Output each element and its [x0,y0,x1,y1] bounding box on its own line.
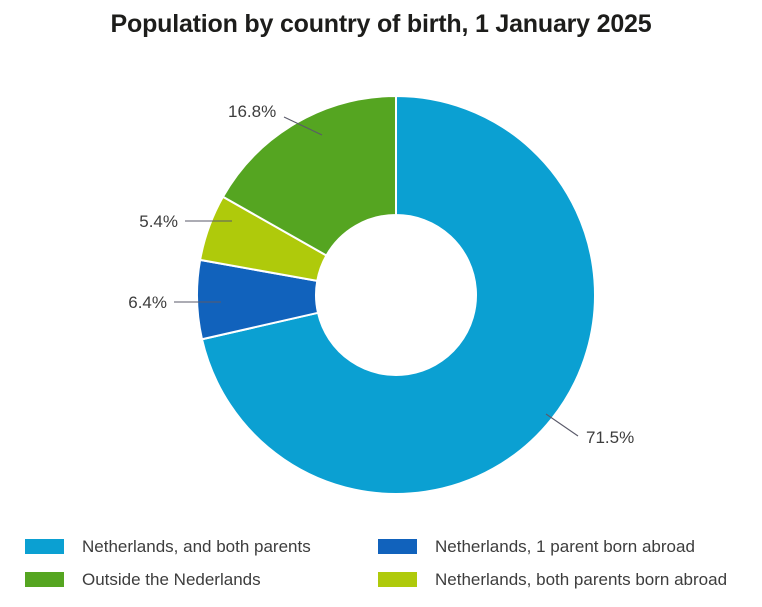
legend-column-left: Netherlands, and both parents Outside th… [25,531,311,597]
legend-label-netherlands-and-both-parents: Netherlands, and both parents [82,538,311,555]
legend-label-netherlands-both-parents-born-abroad: Netherlands, both parents born abroad [435,571,727,588]
legend-item-outside-the-nederlands[interactable]: Outside the Nederlands [25,564,311,594]
donut-slices [197,96,595,494]
legend-column-right: Netherlands, 1 parent born abroad Nether… [378,531,727,597]
legend-item-netherlands-both-parents-born-abroad[interactable]: Netherlands, both parents born abroad [378,564,727,594]
slice-value-netherlands-1-parent-born-abroad: 6.4% [128,293,167,312]
donut-chart-svg: 16.8% 5.4% 6.4% 71.5% [0,0,762,520]
legend-label-netherlands-1-parent-born-abroad: Netherlands, 1 parent born abroad [435,538,695,555]
legend-item-netherlands-1-parent-born-abroad[interactable]: Netherlands, 1 parent born abroad [378,531,727,561]
chart-legend: Netherlands, and both parents Outside th… [0,531,762,607]
slice-value-netherlands-both-parents-born-abroad: 5.4% [139,212,178,231]
legend-swatch-netherlands-1-parent-born-abroad [378,539,417,554]
slice-value-outside-the-nederlands: 16.8% [228,102,276,121]
legend-swatch-netherlands-both-parents-born-abroad [378,572,417,587]
slice-value-netherlands-and-both-parents: 71.5% [586,428,634,447]
leader-line-netherlands-and-both-parents [546,414,578,436]
legend-swatch-netherlands-and-both-parents [25,539,64,554]
legend-swatch-outside-the-nederlands [25,572,64,587]
legend-label-outside-the-nederlands: Outside the Nederlands [82,571,261,588]
legend-item-netherlands-and-both-parents[interactable]: Netherlands, and both parents [25,531,311,561]
donut-chart: 16.8% 5.4% 6.4% 71.5% [0,0,762,520]
